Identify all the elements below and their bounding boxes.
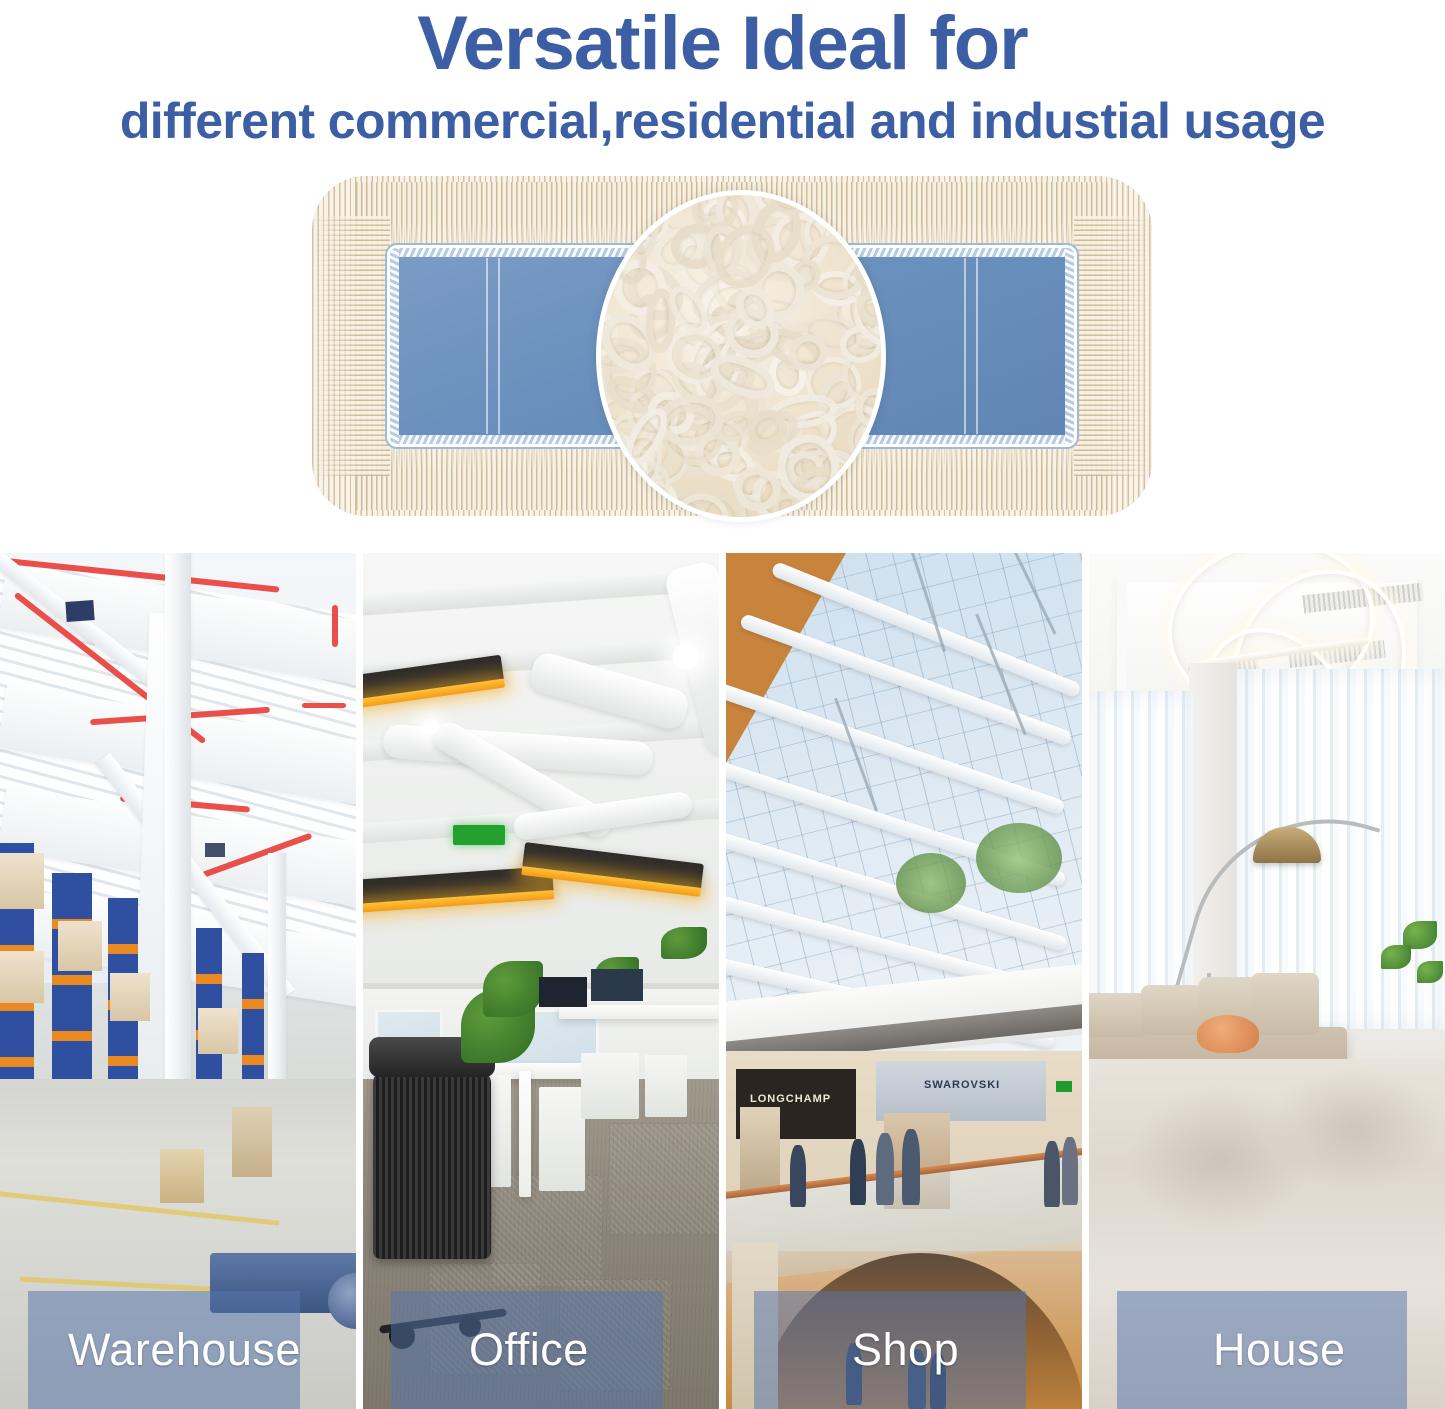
high-bay-light	[65, 600, 94, 622]
desk-pedestal	[645, 1055, 687, 1117]
fringe-right	[1074, 216, 1150, 476]
scene-panel-house[interactable]: House	[1089, 553, 1445, 1409]
serged-stitch-left	[390, 248, 399, 444]
desk-top	[559, 1005, 719, 1019]
store-sign-longchamp: LONGCHAMP	[750, 1093, 831, 1105]
stored-carton	[0, 853, 44, 909]
scene-label-text: House	[1213, 1324, 1346, 1376]
headline-block: Versatile Ideal for different commercial…	[0, 0, 1445, 146]
desk-pedestal	[581, 1053, 639, 1119]
scene-panel-warehouse[interactable]: Warehouse	[0, 553, 356, 1409]
stored-carton	[58, 921, 102, 971]
spot-light	[423, 719, 439, 735]
seam-line	[964, 258, 966, 434]
page-subtitle: different commercial,residential and ind…	[0, 96, 1445, 146]
office-plant	[483, 961, 543, 1017]
floor-marking	[0, 1189, 279, 1225]
product-hero	[312, 176, 1152, 516]
swarovski-facade	[876, 1061, 1046, 1121]
scene-label-text: Shop	[852, 1324, 959, 1376]
seam-line	[498, 258, 500, 434]
page-title: Versatile Ideal for	[0, 6, 1445, 82]
product-banner: Versatile Ideal for different commercial…	[0, 0, 1445, 1409]
sofa-cushion	[1141, 985, 1205, 1035]
desk-leg	[519, 1071, 531, 1197]
teddy-bear	[1197, 1015, 1259, 1053]
seam-line	[486, 258, 488, 434]
potted-plant	[661, 927, 707, 959]
shopper	[790, 1145, 806, 1207]
wrapped-pallet-load	[232, 1107, 272, 1177]
tree-foliage	[976, 823, 1062, 893]
serged-stitch-right	[1065, 248, 1074, 444]
shopper	[1044, 1141, 1060, 1207]
floor-reflection	[1269, 1069, 1439, 1189]
ceiling-slab-line	[363, 569, 719, 617]
fringe-left	[314, 216, 390, 476]
floor-crate	[160, 1149, 204, 1203]
scene-panel-office[interactable]: Office	[363, 553, 719, 1409]
shopper	[1062, 1137, 1078, 1205]
scene-label-warehouse: Warehouse	[28, 1291, 300, 1409]
stored-carton	[0, 951, 44, 1003]
sofa-cushion	[1089, 993, 1149, 1037]
scene-label-office: Office	[391, 1291, 663, 1409]
house-plant-leaf	[1381, 945, 1411, 969]
spot-light	[673, 643, 699, 669]
shopper	[850, 1139, 866, 1205]
vertical-blinds	[1089, 691, 1193, 1021]
looped-yarn-texture	[596, 190, 886, 522]
seam-line	[976, 258, 978, 434]
scene-label-text: Warehouse	[68, 1324, 301, 1376]
shopper	[876, 1133, 894, 1205]
emergency-exit-sign	[453, 825, 505, 845]
high-bay-light	[205, 843, 225, 857]
monitor	[591, 969, 643, 1001]
store-sign-swarovski: SWAROVSKI	[924, 1079, 1000, 1091]
tree-foliage	[896, 853, 966, 913]
usage-scene-grid: Warehouse	[0, 553, 1445, 1409]
exit-sign	[1056, 1081, 1072, 1092]
office-chair-back	[373, 1069, 491, 1259]
desk-pedestal	[539, 1087, 585, 1191]
yarn-closeup-magnifier	[596, 190, 886, 522]
stored-carton	[198, 1008, 238, 1054]
scene-label-text: Office	[469, 1324, 589, 1376]
monitor	[539, 977, 587, 1007]
sprinkler-drop	[302, 703, 346, 708]
scene-label-house: House	[1117, 1291, 1407, 1409]
scene-label-shop: Shop	[754, 1291, 1026, 1409]
sofa-cushion	[1251, 973, 1319, 1035]
sprinkler-drop	[332, 605, 338, 647]
house-plant-leaf	[1417, 961, 1443, 983]
window-display	[740, 1107, 780, 1191]
stored-carton	[110, 973, 150, 1021]
scene-panel-shop[interactable]: LONGCHAMP SWAROVSKI Shop	[726, 553, 1082, 1409]
carpet-tile	[609, 1123, 719, 1235]
shopper	[902, 1129, 920, 1205]
